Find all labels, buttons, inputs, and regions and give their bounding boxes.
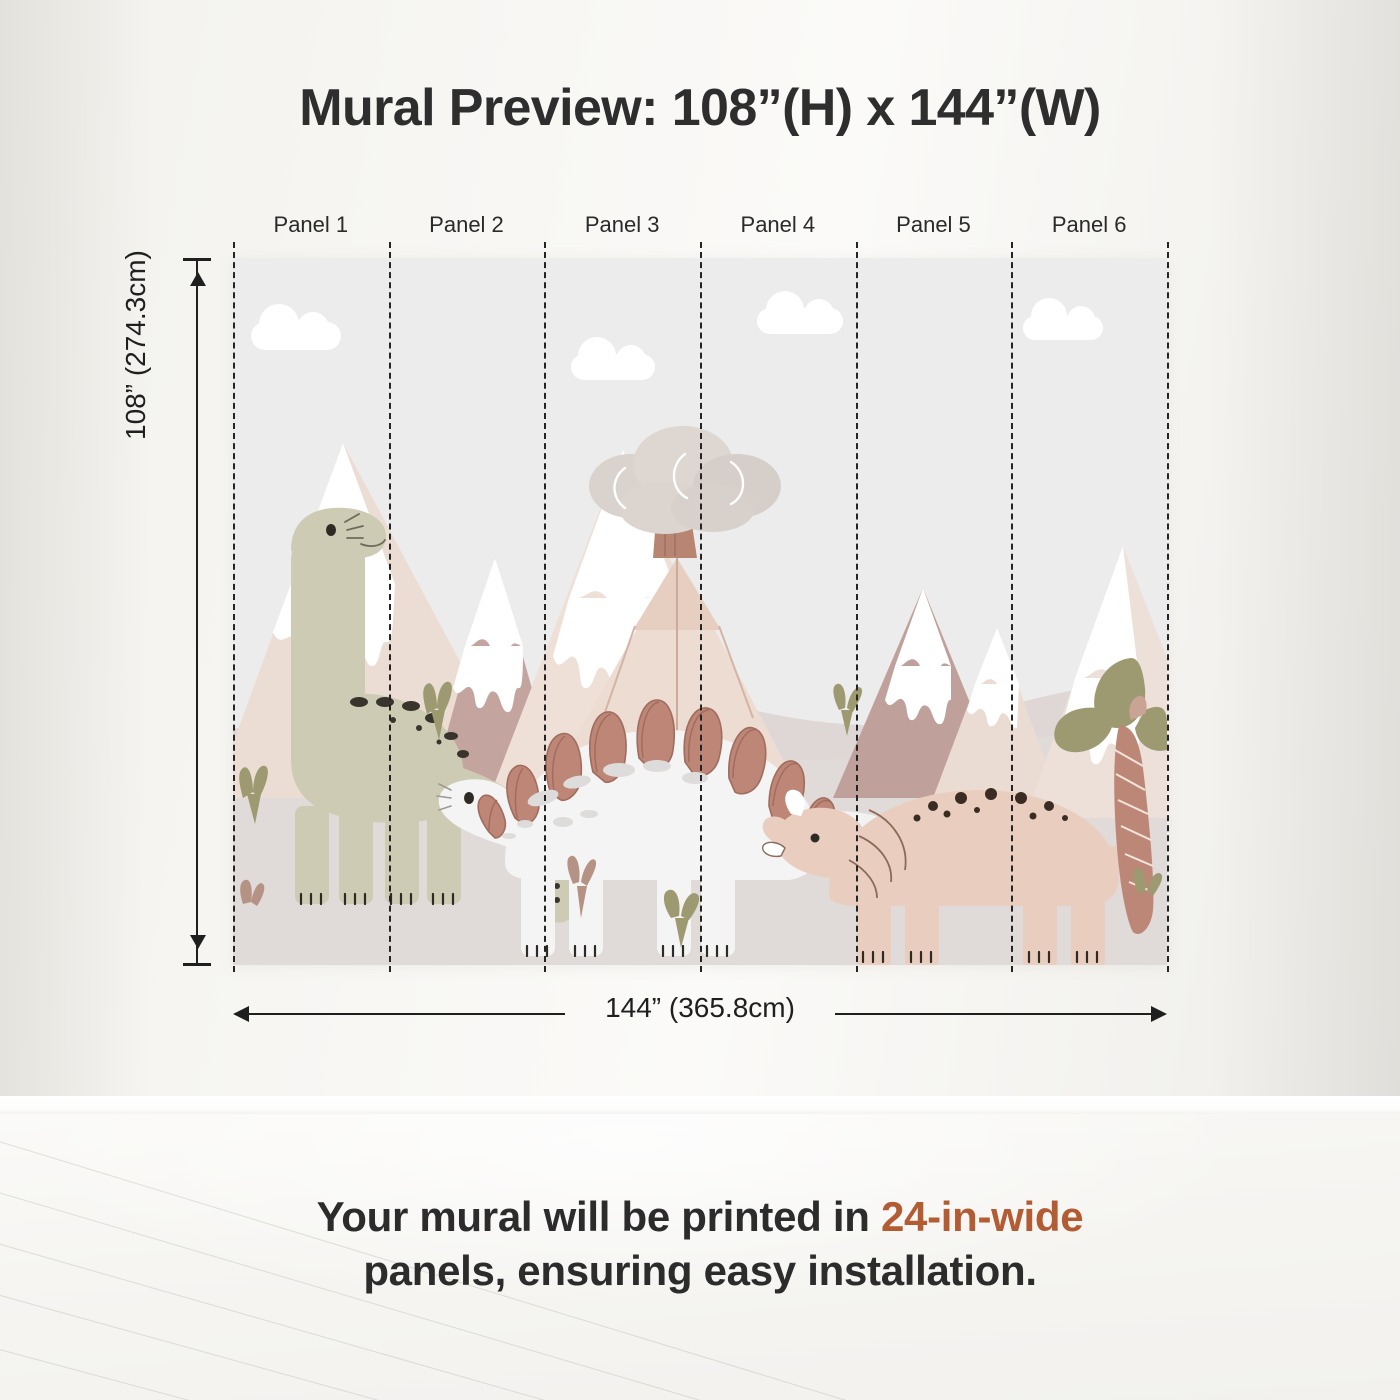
height-dimension-line bbox=[196, 258, 198, 965]
wall-shadow-right bbox=[1210, 0, 1400, 1104]
panel-divider-3 bbox=[700, 242, 702, 972]
height-cap-top bbox=[183, 258, 211, 261]
height-cap-bottom bbox=[183, 963, 211, 966]
width-dimension-text: 144” (365.8cm) bbox=[591, 992, 809, 1023]
caption-highlight: 24-in-wide bbox=[881, 1193, 1083, 1240]
panel-label-6: Panel 6 bbox=[1011, 212, 1167, 238]
panel-label-3: Panel 3 bbox=[544, 212, 700, 238]
panel-divider-2 bbox=[544, 242, 546, 972]
panel-divider-1 bbox=[389, 242, 391, 972]
height-arrow-up bbox=[190, 272, 206, 286]
panel-divider-edge-right bbox=[1167, 242, 1169, 972]
mural-preview-page: Mural Preview: 108”(H) x 144”(W) Panel 1… bbox=[0, 0, 1400, 1400]
panel-label-1: Panel 1 bbox=[233, 212, 389, 238]
caption: Your mural will be printed in 24-in-wide… bbox=[0, 1190, 1400, 1298]
width-dimension-label: 144” (365.8cm) bbox=[233, 992, 1167, 1024]
page-title: Mural Preview: 108”(H) x 144”(W) bbox=[0, 78, 1400, 138]
panel-divider-5 bbox=[1011, 242, 1013, 972]
height-dimension-label: 108” (274.3cm) bbox=[120, 40, 152, 440]
caption-line-2: panels, ensuring easy installation. bbox=[0, 1244, 1400, 1298]
panel-label-5: Panel 5 bbox=[856, 212, 1012, 238]
width-dimension: 144” (365.8cm) bbox=[233, 1000, 1167, 1030]
panel-label-4: Panel 4 bbox=[700, 212, 856, 238]
panel-label-row: Panel 1 Panel 2 Panel 3 Panel 4 Panel 5 … bbox=[233, 212, 1167, 246]
panel-divider-4 bbox=[856, 242, 858, 972]
panel-divider-edge-left bbox=[233, 242, 235, 972]
height-arrow-down bbox=[190, 935, 206, 949]
panel-label-2: Panel 2 bbox=[389, 212, 545, 238]
caption-line-1: Your mural will be printed in 24-in-wide bbox=[0, 1190, 1400, 1244]
caption-line-1-prefix: Your mural will be printed in bbox=[317, 1193, 881, 1240]
